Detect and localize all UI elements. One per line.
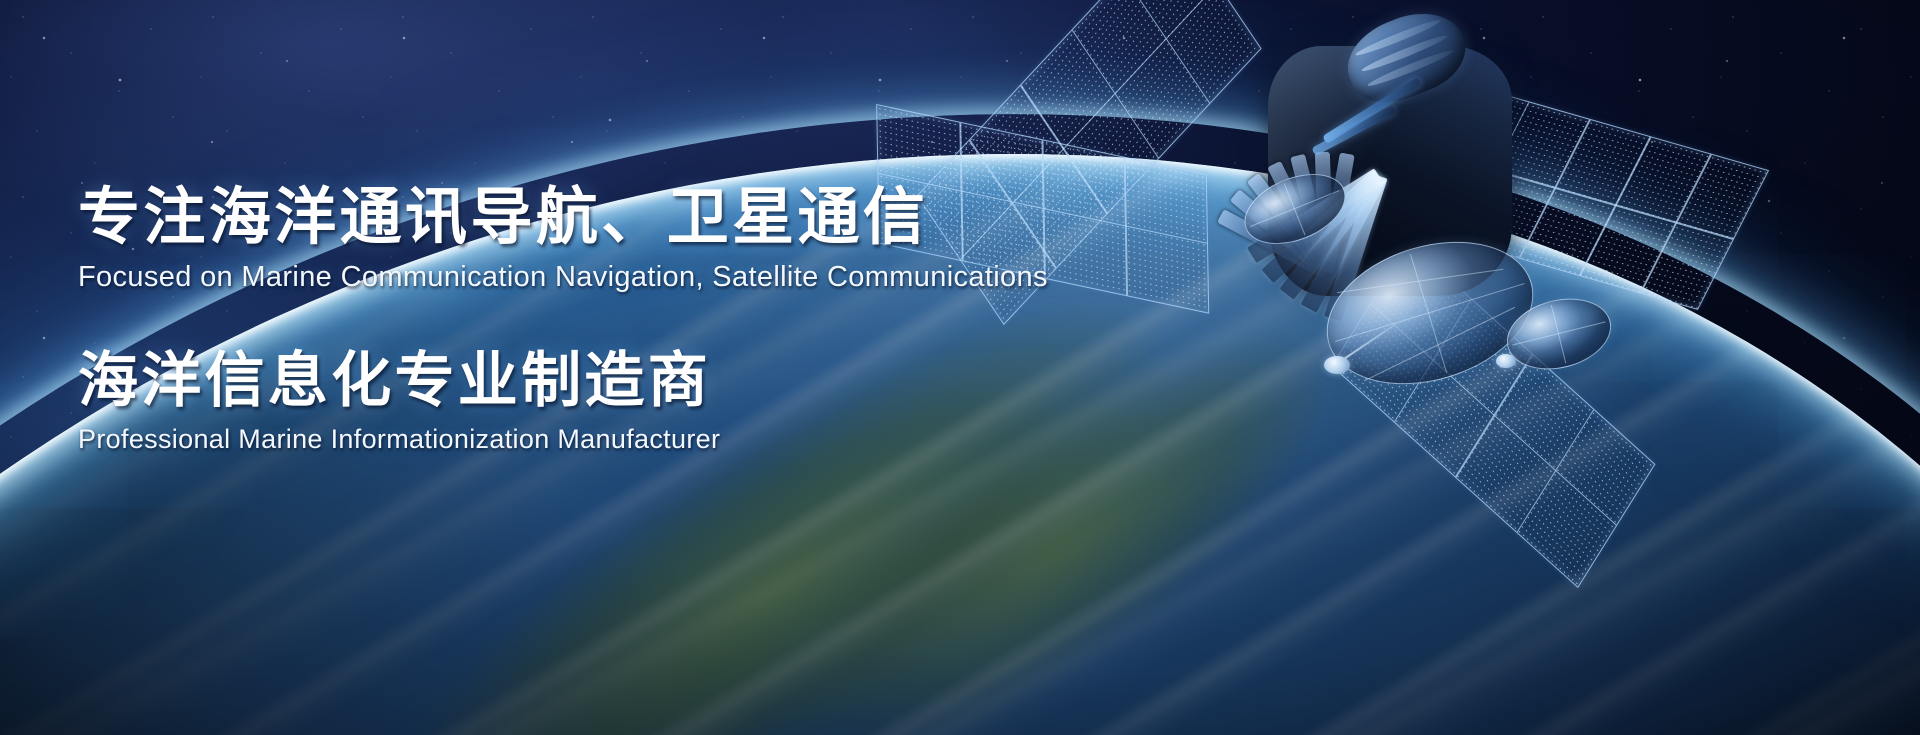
dish-main-feed-horn [1324, 356, 1350, 374]
headline-1-cn: 专注海洋通讯导航、卫星通信 [78, 186, 1158, 249]
headline-block-2: 海洋信息化专业制造商 Professional Marine Informati… [78, 350, 1158, 455]
dish-small-lower-feed-horn [1496, 354, 1516, 368]
banner-copy: 专注海洋通讯导航、卫星通信 Focused on Marine Communic… [78, 186, 1158, 455]
headline-2-en: Professional Marine Informationization M… [78, 425, 1158, 455]
headline-block-1: 专注海洋通讯导航、卫星通信 Focused on Marine Communic… [78, 186, 1158, 294]
hero-banner: 专注海洋通讯导航、卫星通信 Focused on Marine Communic… [0, 0, 1920, 735]
headline-1-en: Focused on Marine Communication Navigati… [78, 262, 1158, 294]
satellite [1120, 0, 1920, 484]
headline-2-cn: 海洋信息化专业制造商 [78, 350, 1158, 411]
